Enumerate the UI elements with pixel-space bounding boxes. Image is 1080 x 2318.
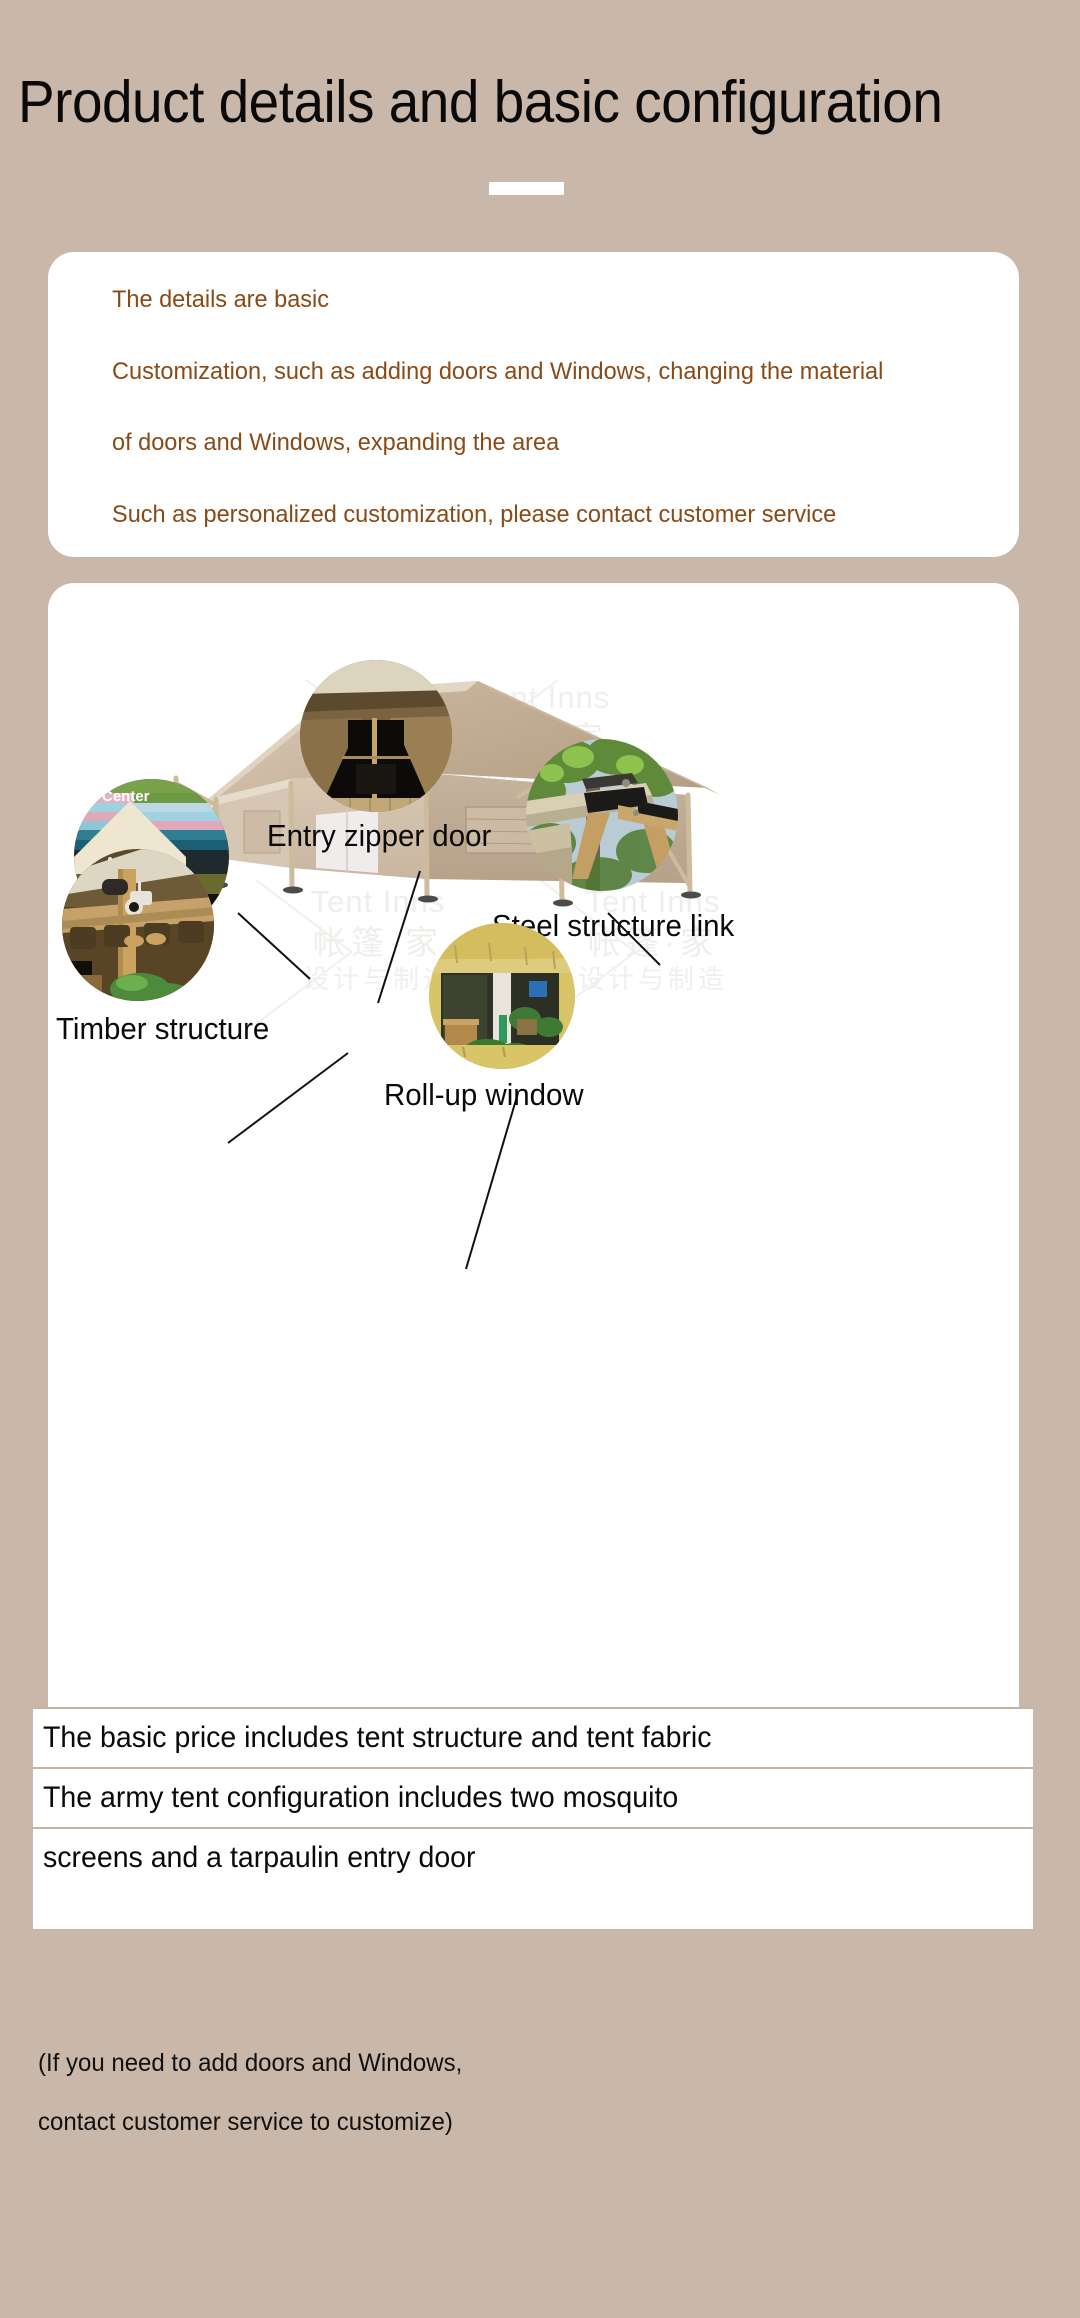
tent-illustration (48, 583, 1019, 1731)
notice-text-block: The details are basic Customization, suc… (112, 288, 1012, 574)
callout-image-roll-up-window (429, 923, 575, 1069)
info-row-text: The army tent configuration includes two… (43, 1781, 678, 1815)
callout-label-entry-zipper-door: Entry zipper door (267, 818, 491, 854)
footer-note-line-1: (If you need to add doors and Windows, (38, 2049, 462, 2078)
notice-line-4: Such as personalized customization, plea… (112, 503, 976, 528)
callout-image-timber-structure (62, 849, 214, 1001)
callout-image-steel-structure (526, 739, 678, 891)
product-detail-page: Product details and basic configuration … (0, 0, 1080, 2318)
info-card: The basic price includes tent structure … (33, 1707, 1033, 1929)
info-card-tail (33, 1887, 1033, 1929)
info-row: The army tent configuration includes two… (33, 1767, 1033, 1827)
diagram-card: Tent Inns 帐篷·家 设计与制造 Tent Inns 帐篷·家 设计与制… (48, 583, 1019, 1731)
footer-note-line-2: contact customer service to customize) (38, 2108, 453, 2137)
info-row-text: The basic price includes tent structure … (43, 1721, 712, 1755)
callout-image-entry-zipper-door (300, 660, 452, 812)
notice-line-2: Customization, such as adding doors and … (112, 360, 976, 385)
notice-line-3: of doors and Windows, expanding the area (112, 431, 976, 456)
callout-label-timber-structure: Timber structure (56, 1011, 269, 1047)
svg-text:Center: Center (102, 788, 150, 805)
info-row: screens and a tarpaulin entry door (33, 1827, 1033, 1887)
page-title: Product details and basic configuration (18, 68, 1022, 136)
info-row: The basic price includes tent structure … (33, 1707, 1033, 1767)
title-underline-bar (489, 182, 564, 195)
info-row-text: screens and a tarpaulin entry door (43, 1841, 476, 1875)
callout-label-roll-up-window: Roll-up window (384, 1077, 584, 1113)
notice-line-1: The details are basic (112, 288, 976, 313)
